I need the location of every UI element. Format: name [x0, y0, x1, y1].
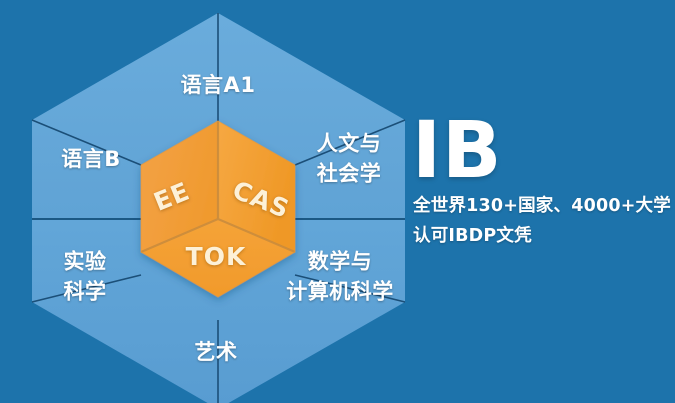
sector-line: 实验 — [64, 247, 107, 277]
cube-label-tok: TOK — [186, 240, 247, 274]
sector-label-math-computer-science: 数学与 计算机科学 — [286, 247, 394, 308]
headline-title: IB — [412, 112, 502, 190]
sector-label-experimental-science: 实验 科学 — [64, 247, 107, 308]
sector-line: 语言A1 — [181, 73, 256, 97]
sector-line: 语言B — [61, 147, 121, 171]
sector-label-humanities-social: 人文与 社会学 — [317, 129, 382, 190]
sector-label-language-b: 语言B — [61, 145, 121, 173]
ib-infographic: 语言A1 人文与 社会学 数学与 计算机科学 艺术 实验 科学 语言B EE C… — [0, 0, 675, 403]
sector-line: 人文与 — [317, 129, 382, 159]
sector-line: 数学与 — [286, 247, 394, 277]
sector-label-arts: 艺术 — [195, 338, 238, 366]
sector-line: 计算机科学 — [286, 277, 394, 307]
headline-subtitle-line2: 认可IBDP文凭 — [413, 225, 532, 249]
sector-line: 艺术 — [195, 340, 238, 364]
headline-subtitle-line1: 全世界130+国家、4000+大学 — [413, 195, 671, 219]
sector-line: 科学 — [64, 277, 107, 307]
sector-line: 社会学 — [317, 159, 382, 189]
sector-label-language-a1: 语言A1 — [181, 71, 256, 99]
